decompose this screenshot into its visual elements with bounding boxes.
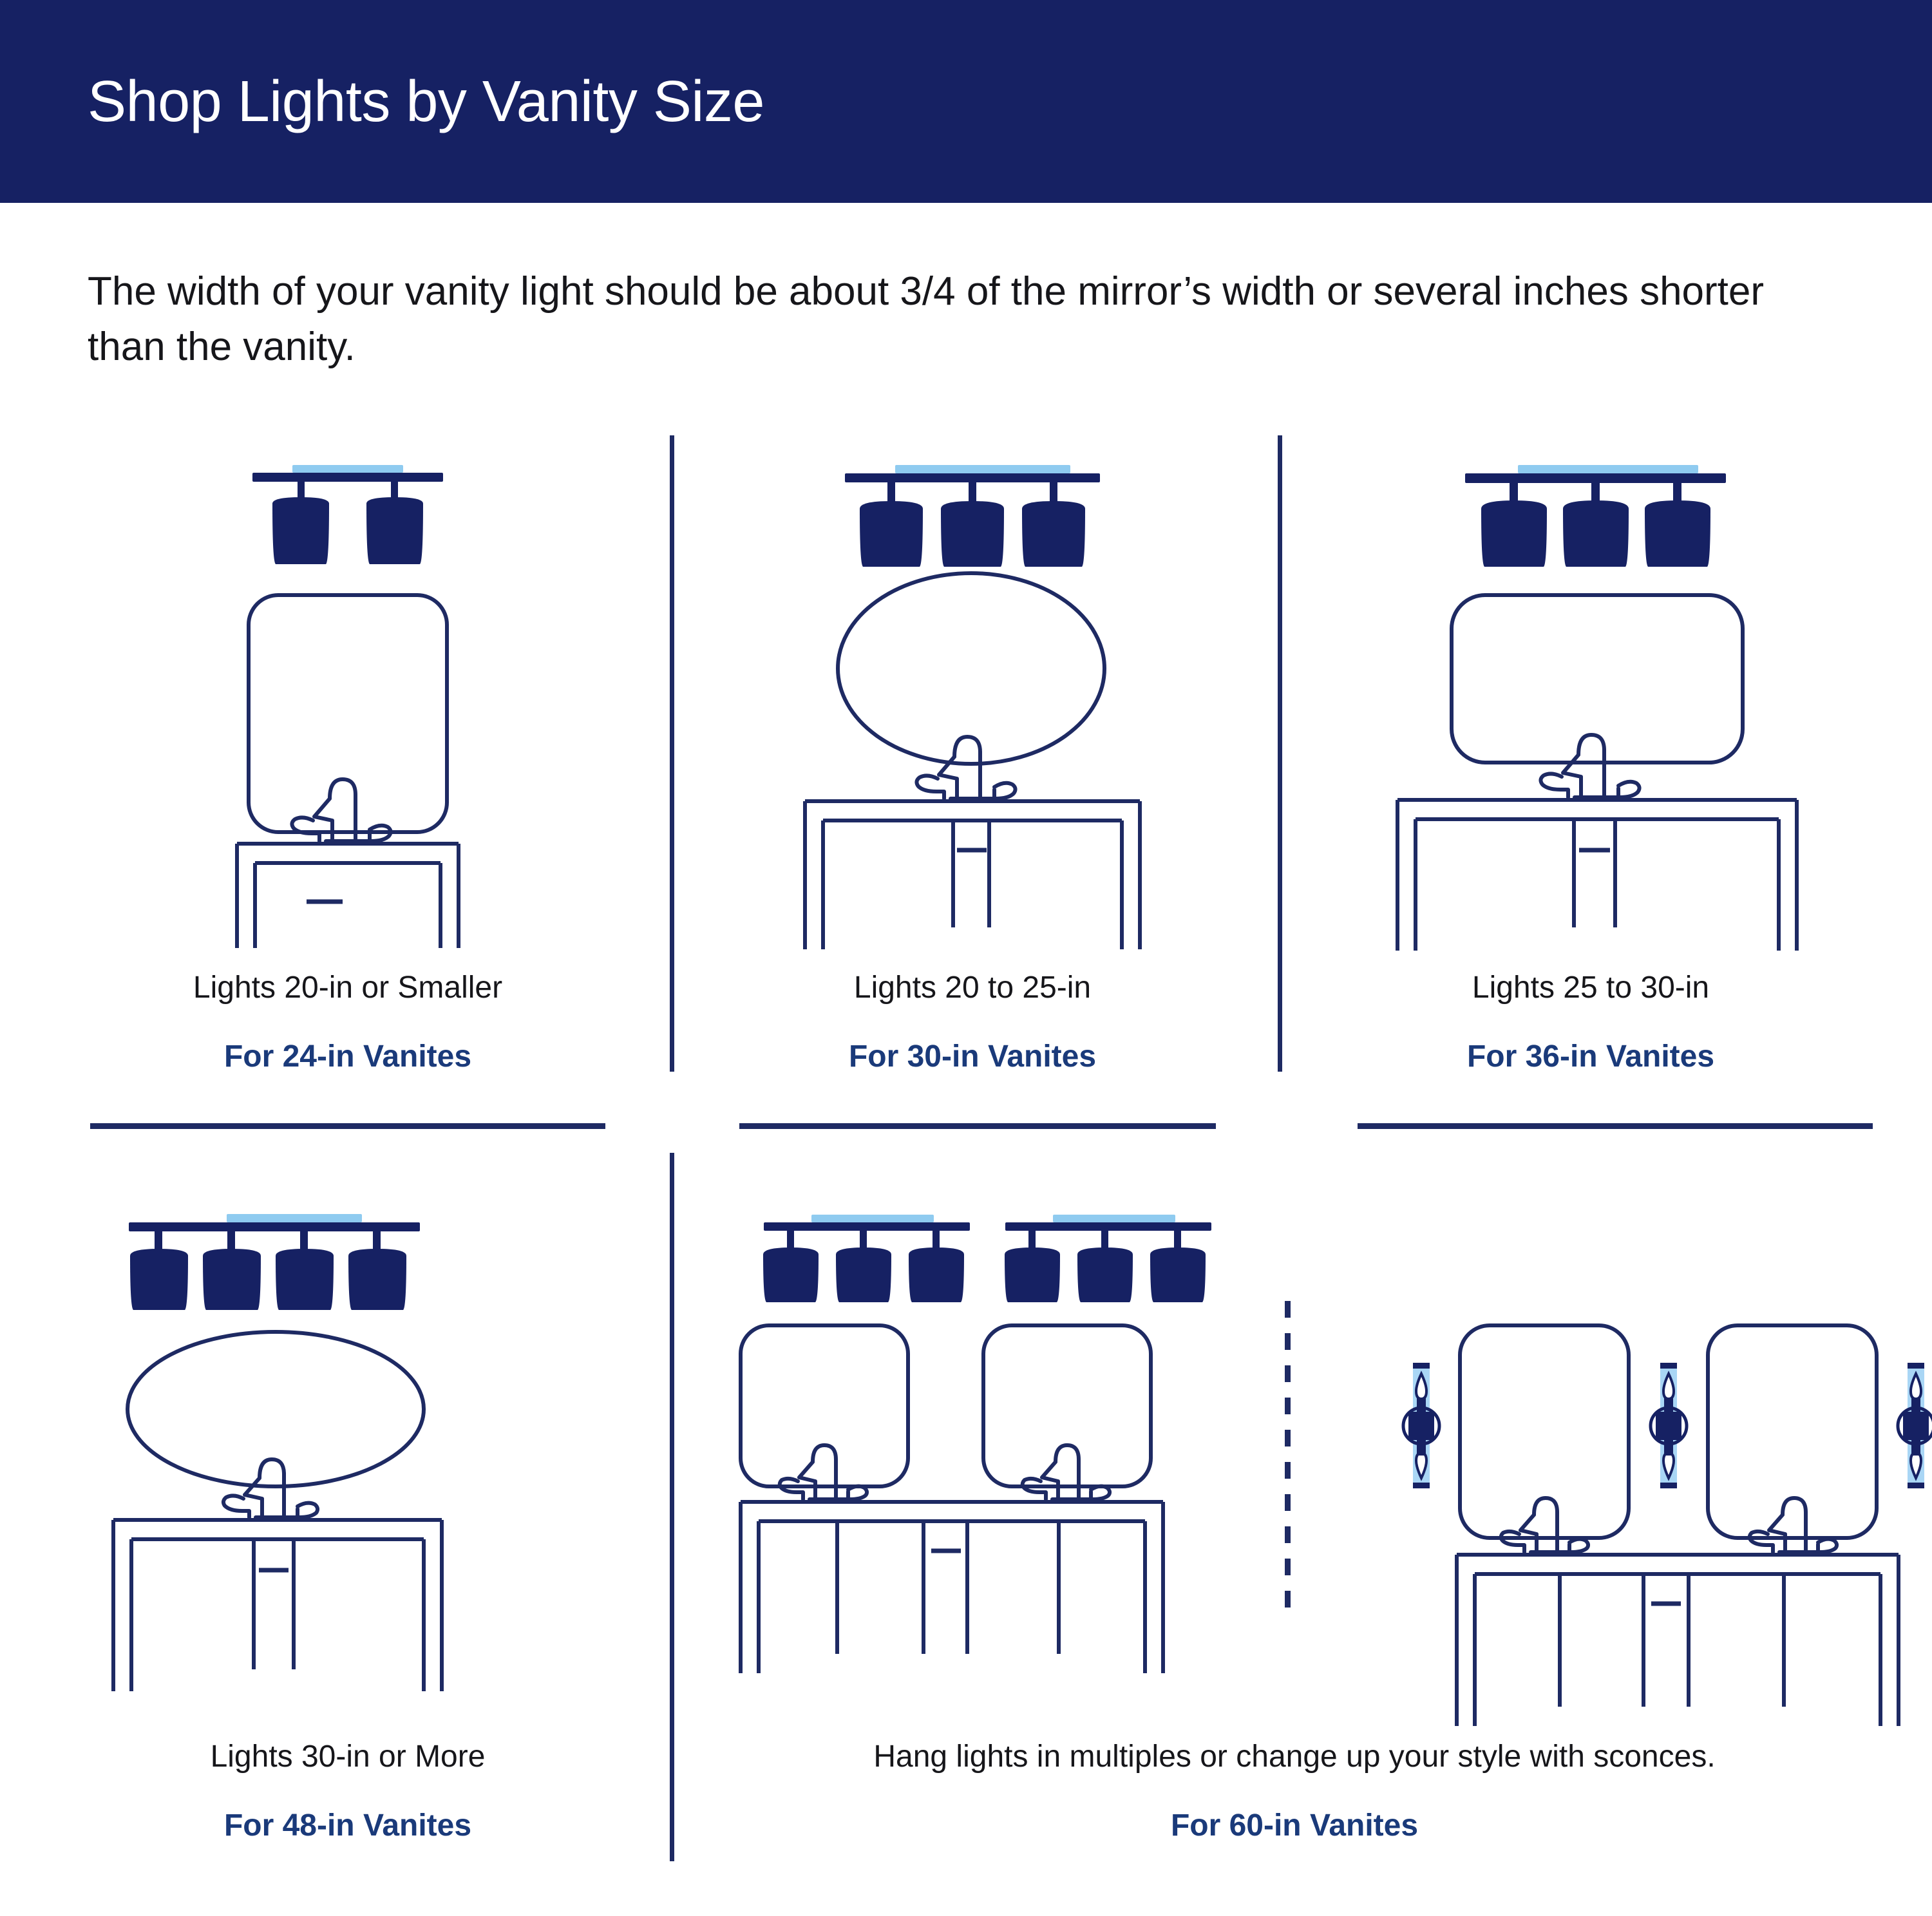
sconce-cap-top [1660,1363,1677,1369]
caption-sub-label: For 24-in Vanites [77,1039,618,1074]
light-shade-icon [1077,1247,1133,1302]
light-stem [227,1231,235,1251]
faucet-icon [1501,1498,1588,1552]
divider-horizontal-panel3 [1358,1123,1873,1129]
light-glow-bar [1053,1215,1175,1222]
vanity-light-bar-icon [763,1215,970,1302]
light-shade-icon [1022,501,1085,567]
light-shade-icon [860,501,923,567]
caption-sub-label: For 36-in Vanites [1307,1039,1874,1074]
panel-vanity-36: Lights 25 to 30-in For 36-in Vanites [1307,451,1874,1069]
caption-vanity-48: Lights 30-in or More For 48-in Vanites [90,1739,605,1843]
panel-vanity-60: Hang lights in multiples or change up yo… [728,1204,1861,1848]
light-mount-bar [1465,473,1726,483]
light-shade-icon [276,1249,334,1310]
caption-sub-label: For 48-in Vanites [90,1808,605,1843]
page-title: Shop Lights by Vanity Size [88,73,764,131]
sconce-cap-bottom [1660,1483,1677,1488]
light-mount-bar [1005,1222,1211,1231]
light-shade-icon [909,1247,964,1302]
mirror-icon [128,1332,424,1486]
vanity-scene-36-svg [1307,451,1874,966]
caption-main-label: Lights 30-in or More [90,1739,605,1774]
light-stem [373,1231,381,1251]
vanity-illustration-60 [728,1204,1861,1732]
mirror-icon [983,1325,1151,1486]
light-stem [787,1231,794,1249]
light-stem [933,1231,940,1249]
light-stem [1174,1231,1181,1249]
light-mount-bar [129,1222,420,1231]
wall-sconce-icon [1403,1363,1439,1488]
infographic-page: { "header": { "title": "Shop Lights by V… [0,0,1932,1916]
vanity-illustration-30 [702,451,1243,966]
caption-vanity-30: Lights 20 to 25-in For 30-in Vanites [702,970,1243,1074]
page-header: Shop Lights by Vanity Size [0,0,1932,203]
double-vanity-with-sconces [1403,1325,1932,1726]
sconce-cap-bottom [1908,1483,1924,1488]
double-vanity-with-bar-lights [741,1215,1211,1673]
vanity-cabinet-icon [741,1502,1163,1673]
light-stem [969,482,976,503]
vanity-scene-60-svg [728,1204,1861,1732]
sconce-body [1903,1412,1929,1440]
faucet-icon [780,1445,867,1499]
light-glow-bar [227,1214,362,1222]
vanity-cabinet-icon [1397,800,1797,951]
vanity-cabinet-icon [113,1520,442,1691]
light-shade-icon [1150,1247,1206,1302]
light-shade-icon [941,501,1004,567]
light-shade-icon [1563,500,1629,567]
light-shade-icon [348,1249,406,1310]
light-glow-bar [1518,465,1698,473]
wall-sconce-icon [1651,1363,1687,1488]
vanity-cabinet-icon [1457,1555,1899,1726]
light-shade-icon [763,1247,819,1302]
faucet-icon [1750,1498,1837,1552]
faucet-icon [1023,1445,1110,1499]
sconce-body [1656,1412,1681,1440]
light-shade-icon [130,1249,188,1310]
vanity-illustration-48 [90,1204,605,1732]
caption-main-label: Lights 25 to 30-in [1307,970,1874,1005]
sconce-cap-bottom [1413,1483,1430,1488]
faucet-icon [223,1459,317,1517]
light-stem [860,1231,867,1249]
light-shade-icon [836,1247,891,1302]
light-glow-bar [895,465,1070,473]
mirror-icon [1460,1325,1629,1538]
divider-horizontal-panel2 [739,1123,1216,1129]
light-glow-bar [811,1215,934,1222]
light-stem [155,1231,162,1251]
light-stem [1510,483,1518,502]
light-shade-icon [1481,500,1547,567]
vanity-scene-48-svg [90,1204,605,1732]
light-stem [1101,1231,1108,1249]
vanity-cabinet-icon [805,801,1140,949]
vanity-scene-24-svg [77,451,618,966]
light-stem [1028,1231,1036,1249]
divider-vertical-row2 [670,1153,674,1861]
light-stem [1050,482,1057,503]
caption-sub-label: For 30-in Vanites [702,1039,1243,1074]
caption-main-label: Hang lights in multiples or change up yo… [728,1739,1861,1774]
mirror-icon [249,595,447,832]
light-stem [887,482,895,503]
sconce-cap-top [1908,1363,1924,1369]
mirror-icon [1708,1325,1877,1538]
divider-vertical-col1-col2-row1 [670,435,674,1072]
intro-paragraph: The width of your vanity light should be… [88,264,1852,374]
divider-horizontal-panel1 [90,1123,605,1129]
caption-main-label: Lights 20 to 25-in [702,970,1243,1005]
light-shade-icon [1005,1247,1060,1302]
vanity-light-bar-icon [129,1214,420,1310]
vanity-light-bar-icon [1465,465,1726,567]
faucet-icon [916,737,1015,799]
wall-sconce-icon [1898,1363,1932,1488]
light-mount-bar [845,473,1100,482]
light-shade-icon [203,1249,261,1310]
caption-vanity-60: Hang lights in multiples or change up yo… [728,1739,1861,1843]
mirror-icon [741,1325,908,1486]
caption-sub-label: For 60-in Vanites [728,1808,1861,1843]
vanity-light-bar-icon [1005,1215,1211,1302]
panel-vanity-48: Lights 30-in or More For 48-in Vanites [90,1204,605,1848]
light-shade-icon [272,497,329,564]
light-shade-icon [366,497,423,564]
sconce-cap-top [1413,1363,1430,1369]
caption-vanity-24: Lights 20-in or Smaller For 24-in Vanite… [77,970,618,1074]
light-shade-icon [1645,500,1710,567]
vanity-illustration-36 [1307,451,1874,966]
panel-vanity-30: Lights 20 to 25-in For 30-in Vanites [702,451,1243,1069]
panel-vanity-24: Lights 20-in or Smaller For 24-in Vanite… [77,451,618,1069]
vanity-illustration-24 [77,451,618,966]
light-mount-bar [252,473,443,482]
divider-vertical-col2-col3-row1 [1278,435,1282,1072]
vanity-scene-30-svg [702,451,1243,966]
light-stem [1591,483,1600,502]
light-mount-bar [764,1222,970,1231]
light-stem [1673,483,1681,502]
vanity-light-bar-icon [845,465,1100,567]
caption-main-label: Lights 20-in or Smaller [77,970,618,1005]
vanity-cabinet-icon [237,844,459,948]
light-stem [300,1231,308,1251]
caption-vanity-36: Lights 25 to 30-in For 36-in Vanites [1307,970,1874,1074]
sconce-body [1408,1412,1434,1440]
faucet-icon [1540,735,1639,797]
light-glow-bar [292,465,403,473]
vanity-light-bar-icon [252,465,443,564]
